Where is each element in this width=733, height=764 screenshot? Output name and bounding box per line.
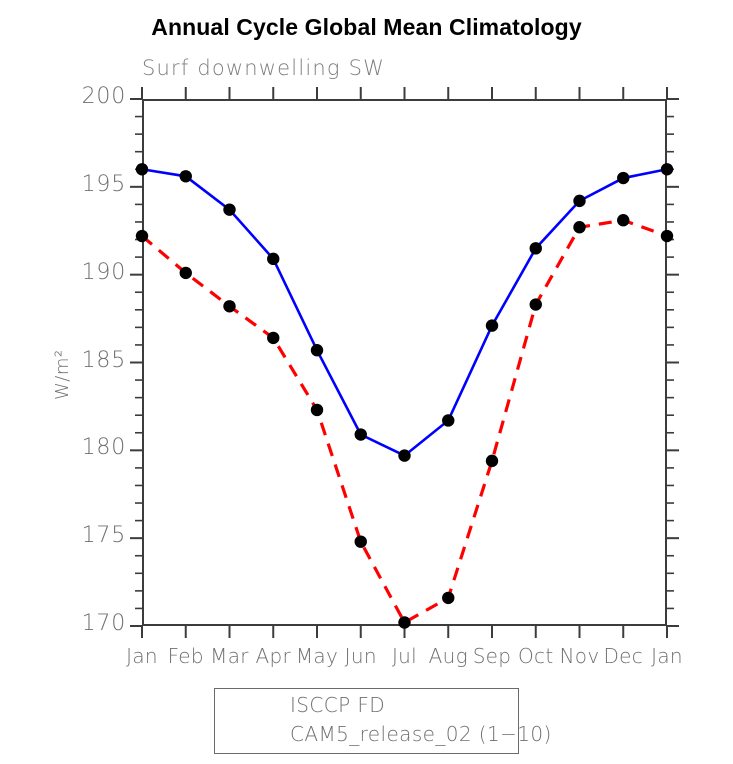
y-tick-label: 200 [56,84,126,109]
series-line-1 [142,169,667,455]
data-point [223,300,235,312]
data-point [442,414,454,426]
data-series-layer [136,163,673,629]
data-point [661,230,673,242]
legend-label-cam5: CAM5_release_02 (1−10) [290,722,552,746]
data-point [355,428,367,440]
data-point [486,455,498,467]
data-point [136,163,148,175]
y-tick-label: 195 [56,172,126,197]
data-point [355,535,367,547]
data-point [311,344,323,356]
data-point [573,221,585,233]
legend-label-isccp-fd: ISCCP FD [290,693,385,717]
data-point [223,203,235,215]
axis-ticks [130,87,679,638]
data-point [398,616,410,628]
data-point [530,242,542,254]
x-tick-label: Jan [637,644,697,668]
y-tick-label: 185 [56,348,126,373]
y-tick-label: 170 [56,611,126,636]
data-point [442,592,454,604]
data-point [180,170,192,182]
y-tick-label: 180 [56,435,126,460]
series-line-2 [142,220,667,622]
data-point [617,214,629,226]
data-point [617,172,629,184]
y-tick-label: 190 [56,260,126,285]
y-tick-label: 175 [56,523,126,548]
data-point [267,253,279,265]
data-point [311,404,323,416]
data-point [530,298,542,310]
data-point [180,267,192,279]
data-point [398,449,410,461]
data-point [267,332,279,344]
data-point [573,195,585,207]
chart-page: Annual Cycle Global Mean Climatology Sur… [0,0,733,764]
data-point [136,230,148,242]
data-point [661,163,673,175]
data-point [486,319,498,331]
